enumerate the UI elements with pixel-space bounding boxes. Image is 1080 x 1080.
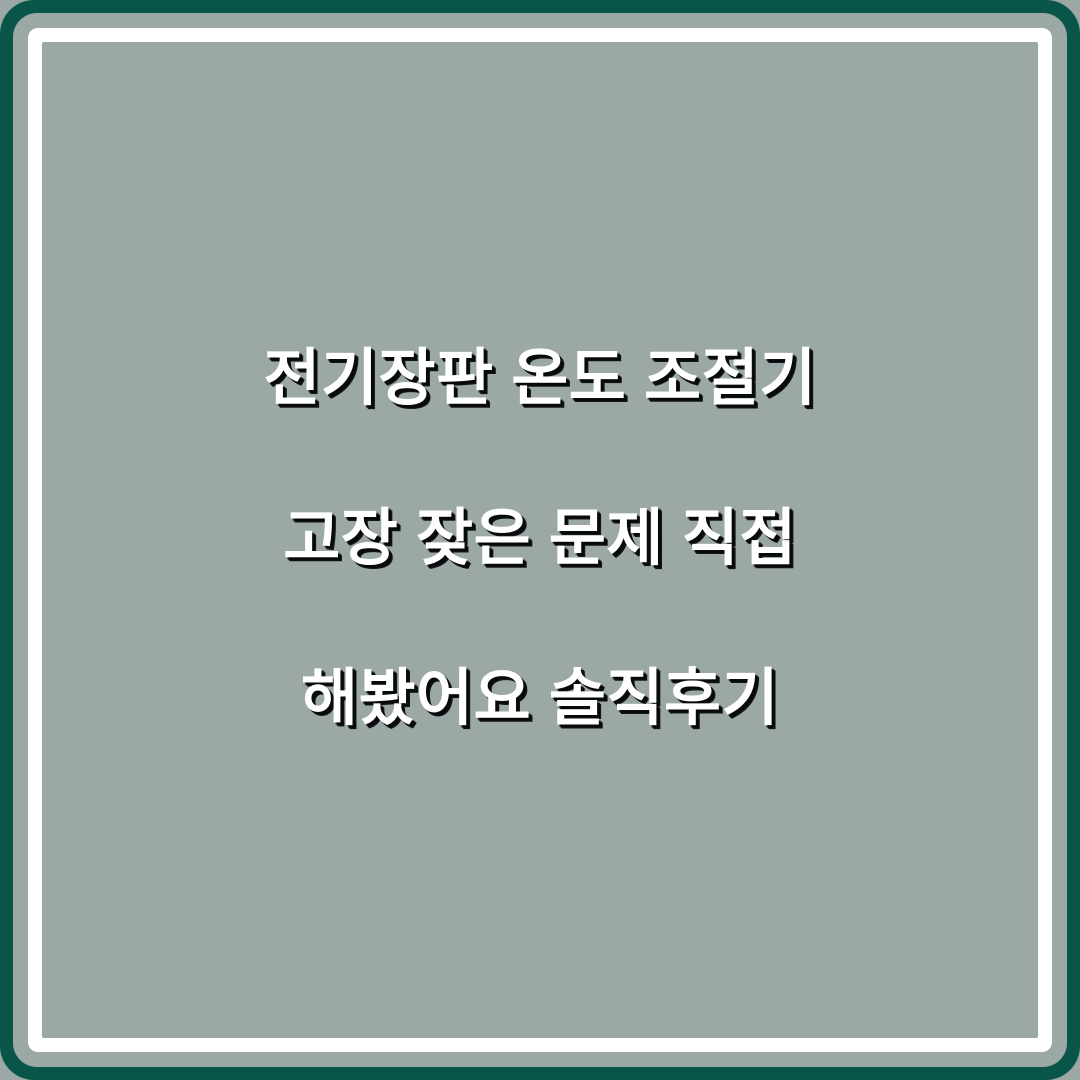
headline-line-1: 전기장판 온도 조절기 bbox=[82, 339, 998, 419]
headline-line-3: 해봤어요 솔직후기 bbox=[82, 659, 998, 739]
poster-root: 전기장판 온도 조절기 고장 잦은 문제 직접 해봤어요 솔직후기 bbox=[0, 0, 1080, 1080]
page-title: 전기장판 온도 조절기 고장 잦은 문제 직접 해봤어요 솔직후기 bbox=[42, 259, 1038, 819]
outer-gray-band: 전기장판 온도 조절기 고장 잦은 문제 직접 해봤어요 솔직후기 bbox=[13, 13, 1067, 1067]
poster-canvas: 전기장판 온도 조절기 고장 잦은 문제 직접 해봤어요 솔직후기 bbox=[42, 42, 1038, 1038]
headline-line-2: 고장 잦은 문제 직접 bbox=[82, 499, 998, 579]
white-inner-frame: 전기장판 온도 조절기 고장 잦은 문제 직접 해봤어요 솔직후기 bbox=[28, 28, 1052, 1052]
